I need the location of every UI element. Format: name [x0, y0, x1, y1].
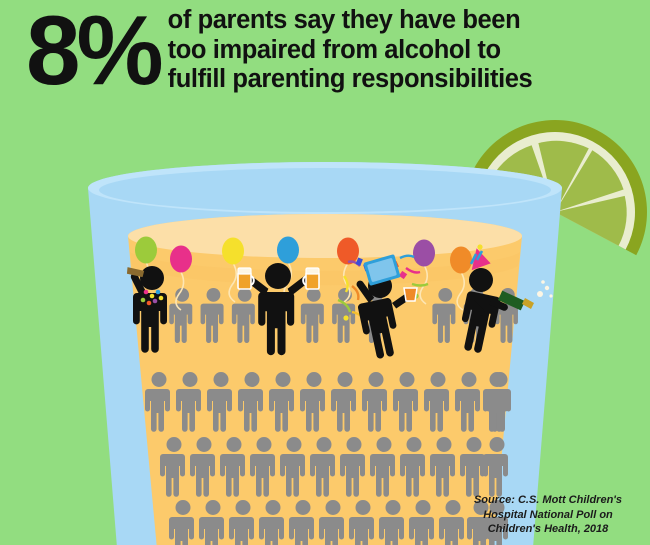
balloon-orange [337, 238, 359, 265]
headline-line-1: of parents say they have been [168, 6, 533, 36]
party-figure-horn-blower [131, 266, 167, 353]
headline-line-2: too impaired from alcohol to [168, 36, 533, 66]
party-figure-laptop-drink [357, 271, 411, 360]
balloons [135, 237, 472, 274]
headline-text: of parents say they have been too impair… [168, 6, 533, 95]
headline-line-3: fulfill parenting responsibilities [168, 65, 533, 95]
balloon-yellow [222, 238, 244, 265]
stat-percent: 8% [26, 2, 160, 98]
source-line-2: Hospital National Poll on [458, 508, 638, 523]
source-line-1: Source: C.S. Mott Children's [458, 493, 638, 508]
infographic-canvas: 8% of parents say they have been too imp… [0, 0, 650, 545]
balloon-orange-2 [450, 247, 472, 274]
balloon-green [135, 237, 157, 264]
balloon-pink [170, 246, 192, 273]
source-attribution: Source: C.S. Mott Children's Hospital Na… [458, 493, 638, 537]
beer-mug-left [238, 268, 254, 289]
blue-laptop-prop [363, 254, 400, 286]
orange-cup-prop [404, 288, 417, 301]
source-line-3: Children's Health, 2018 [458, 522, 638, 537]
champagne-fizz [537, 280, 553, 297]
balloon-blue [277, 237, 299, 264]
beer-mug-right [303, 268, 319, 289]
balloon-purple [413, 240, 435, 267]
headline-block: 8% of parents say they have been too imp… [0, 0, 650, 118]
party-figure-beer-cheers [245, 263, 310, 355]
